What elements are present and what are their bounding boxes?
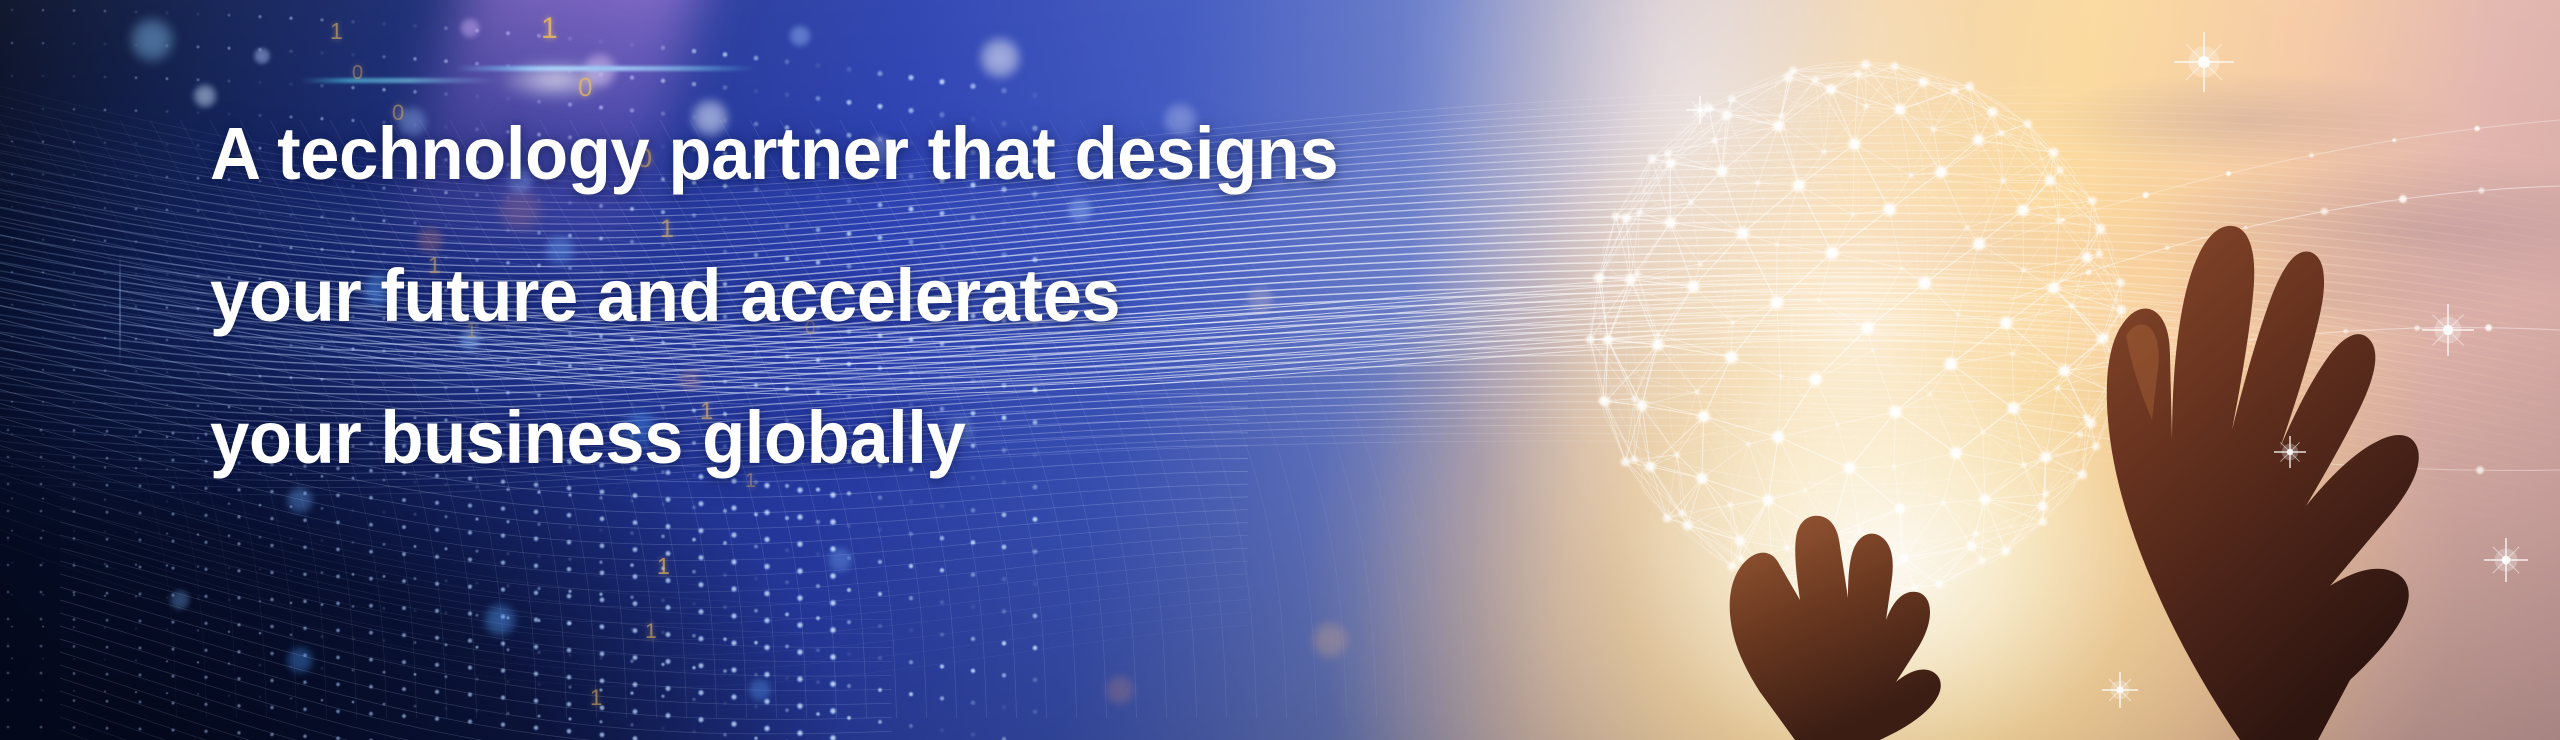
binary-digit: 1: [645, 620, 657, 644]
headline-line-3: your business globally: [210, 402, 1566, 473]
headline-line-2: your future and accelerates: [210, 260, 1566, 331]
headline-line-1: A technology partner that designs: [210, 118, 1566, 189]
hero-banner: 1001111110101101 A technology partner th…: [0, 0, 2560, 740]
binary-digit: 1: [541, 12, 558, 46]
binary-digit: 1: [330, 18, 343, 45]
binary-digit: 0: [578, 72, 592, 103]
binary-digit: 0: [352, 62, 363, 85]
binary-digit: 1: [657, 553, 670, 580]
binary-digit: 1: [590, 685, 602, 711]
headline: A technology partner that designs your f…: [210, 118, 1630, 473]
